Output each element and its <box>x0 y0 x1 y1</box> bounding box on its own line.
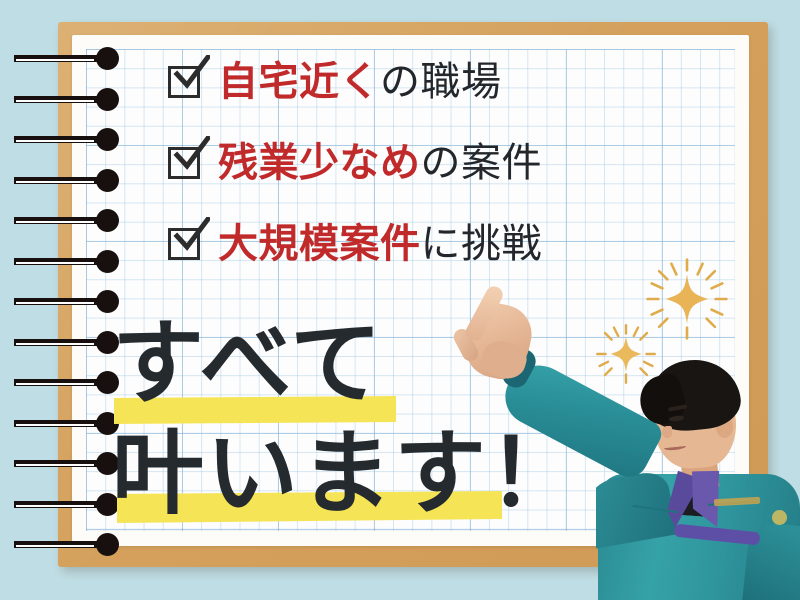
slogan-line-1-text: すべて <box>112 316 582 413</box>
checklist-item-3-black: に挑戦 <box>421 221 543 267</box>
checkbox-checked-icon[interactable] <box>168 66 200 98</box>
poster-canvas: 自宅近くの職場 残業少なめの案件 大規模案件に挑戦 <box>0 0 800 600</box>
person-nose <box>662 426 672 438</box>
uniform-arm-patch <box>772 510 787 525</box>
checklist-item-2-red: 残業少なめ <box>218 140 421 186</box>
checklist-item-2-text: 残業少なめの案件 <box>218 143 542 183</box>
checkbox-checked-icon[interactable] <box>168 147 200 179</box>
binding-ring-head <box>96 250 119 273</box>
checklist-item-1: 自宅近くの職場 <box>168 56 688 108</box>
checklist-item-2: 残業少なめの案件 <box>168 137 688 189</box>
checklist-item-1-black: の職場 <box>380 59 502 105</box>
slogan-block: すべて 叶います！ <box>112 316 582 536</box>
checklist-item-3: 大規模案件に挑戦 <box>168 218 688 270</box>
spiral-binding <box>0 0 120 600</box>
binding-ring-head <box>96 47 119 70</box>
binding-ring-head <box>96 169 119 192</box>
slogan-line-1: すべて <box>112 316 582 426</box>
binding-ring-head <box>96 209 119 232</box>
checklist-item-3-red: 大規模案件 <box>218 221 421 267</box>
slogan-line-2: 叶います！ <box>112 426 582 536</box>
checklist-item-3-text: 大規模案件に挑戦 <box>218 224 542 264</box>
slogan-line-2-text: 叶います！ <box>112 426 582 523</box>
checklist-item-2-black: の案件 <box>421 140 543 186</box>
checklist: 自宅近くの職場 残業少なめの案件 大規模案件に挑戦 <box>168 56 688 299</box>
binding-ring-head <box>96 128 119 151</box>
checkbox-checked-icon[interactable] <box>168 228 200 260</box>
binding-ring-head <box>96 533 119 556</box>
binding-ring-head <box>96 88 119 111</box>
sparkle-large-icon <box>646 258 728 340</box>
checklist-item-1-red: 自宅近く <box>218 59 380 105</box>
checklist-item-1-text: 自宅近くの職場 <box>218 62 502 102</box>
